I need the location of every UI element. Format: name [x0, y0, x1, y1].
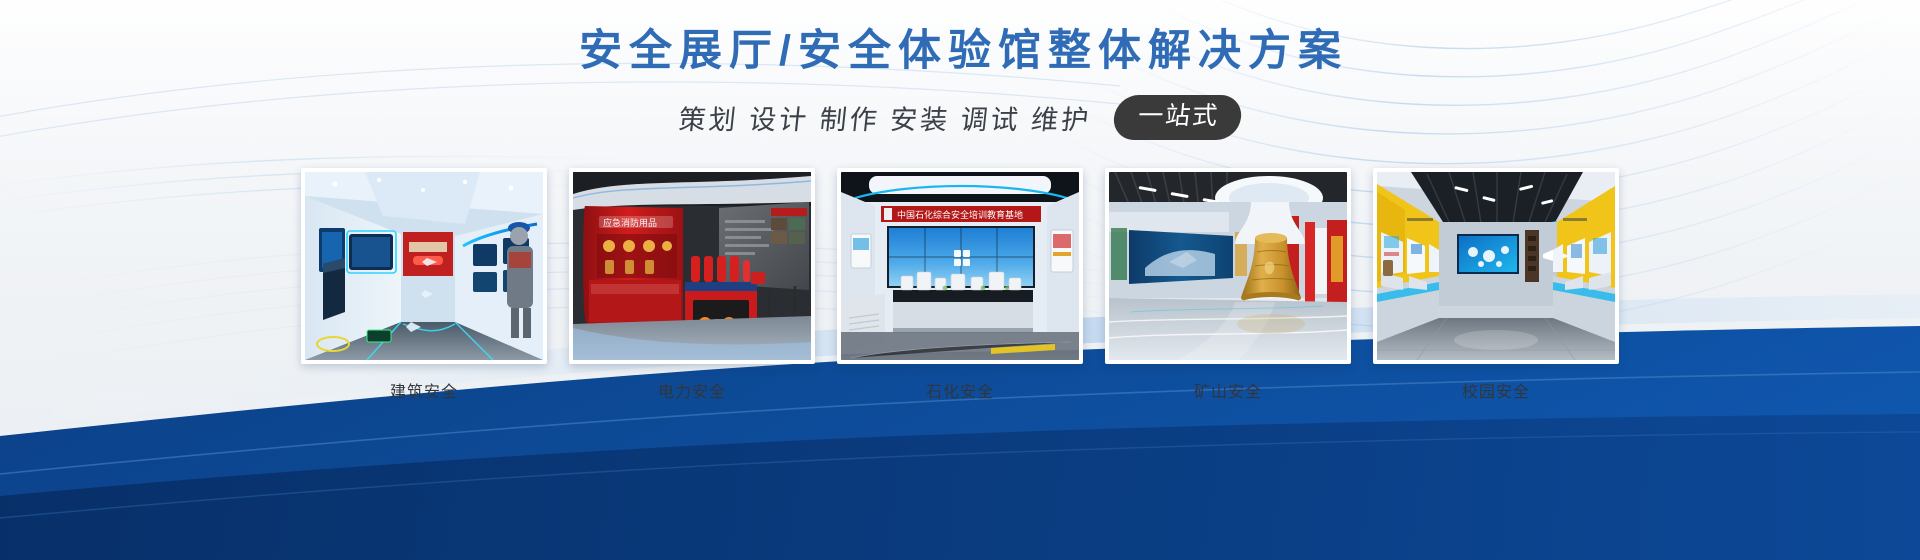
gallery-card[interactable]: 校园安全	[1373, 168, 1619, 402]
gallery-thumbnail[interactable]	[301, 168, 547, 364]
red-fire-equipment-photo: 应急消防用品	[573, 172, 811, 360]
gallery-caption: 校园安全	[1462, 378, 1530, 402]
gallery-card[interactable]: 建筑安全	[301, 168, 547, 402]
golden-bell-hall-photo	[1109, 172, 1347, 360]
gallery-thumbnail[interactable]	[1105, 168, 1351, 364]
banner-content: 安全展厅/安全体验馆整体解决方案 策划 设计 制作 安装 调试 维护 一站式	[0, 0, 1920, 560]
page-title: 安全展厅/安全体验馆整体解决方案	[572, 26, 1348, 77]
exhibition-gallery: 建筑安全	[301, 168, 1619, 402]
svg-text:应急消防用品: 应急消防用品	[603, 217, 657, 228]
safety-exhibition-banner: 安全展厅/安全体验馆整体解决方案 策划 设计 制作 安装 调试 维护 一站式	[0, 0, 1920, 560]
svg-text:中国石化综合安全培训教育基地: 中国石化综合安全培训教育基地	[897, 209, 1023, 220]
gallery-caption: 建筑安全	[390, 378, 458, 402]
status-badge: 一站式	[1111, 95, 1243, 140]
gallery-caption: 矿山安全	[1194, 378, 1262, 402]
video-wall-training-photo: 中国石化综合安全培训教育基地	[841, 172, 1079, 360]
gallery-card[interactable]: 中国石化综合安全培训教育基地	[837, 168, 1083, 402]
gallery-card[interactable]: 矿山安全	[1105, 168, 1351, 402]
gallery-caption: 电力安全	[658, 378, 726, 402]
gallery-thumbnail[interactable]: 中国石化综合安全培训教育基地	[837, 168, 1083, 364]
gallery-thumbnail[interactable]	[1373, 168, 1619, 364]
service-steps-text: 策划 设计 制作 安装 调试 维护	[677, 98, 1094, 137]
gallery-caption: 石化安全	[926, 378, 994, 402]
gallery-thumbnail[interactable]: 应急消防用品	[569, 168, 815, 364]
blue-corridor-photo	[305, 172, 543, 360]
status-badge-label: 一站式	[1136, 101, 1220, 132]
service-steps-row: 策划 设计 制作 安装 调试 维护 一站式	[679, 95, 1241, 140]
yellow-corridor-photo	[1377, 172, 1615, 360]
gallery-card[interactable]: 应急消防用品	[569, 168, 815, 402]
